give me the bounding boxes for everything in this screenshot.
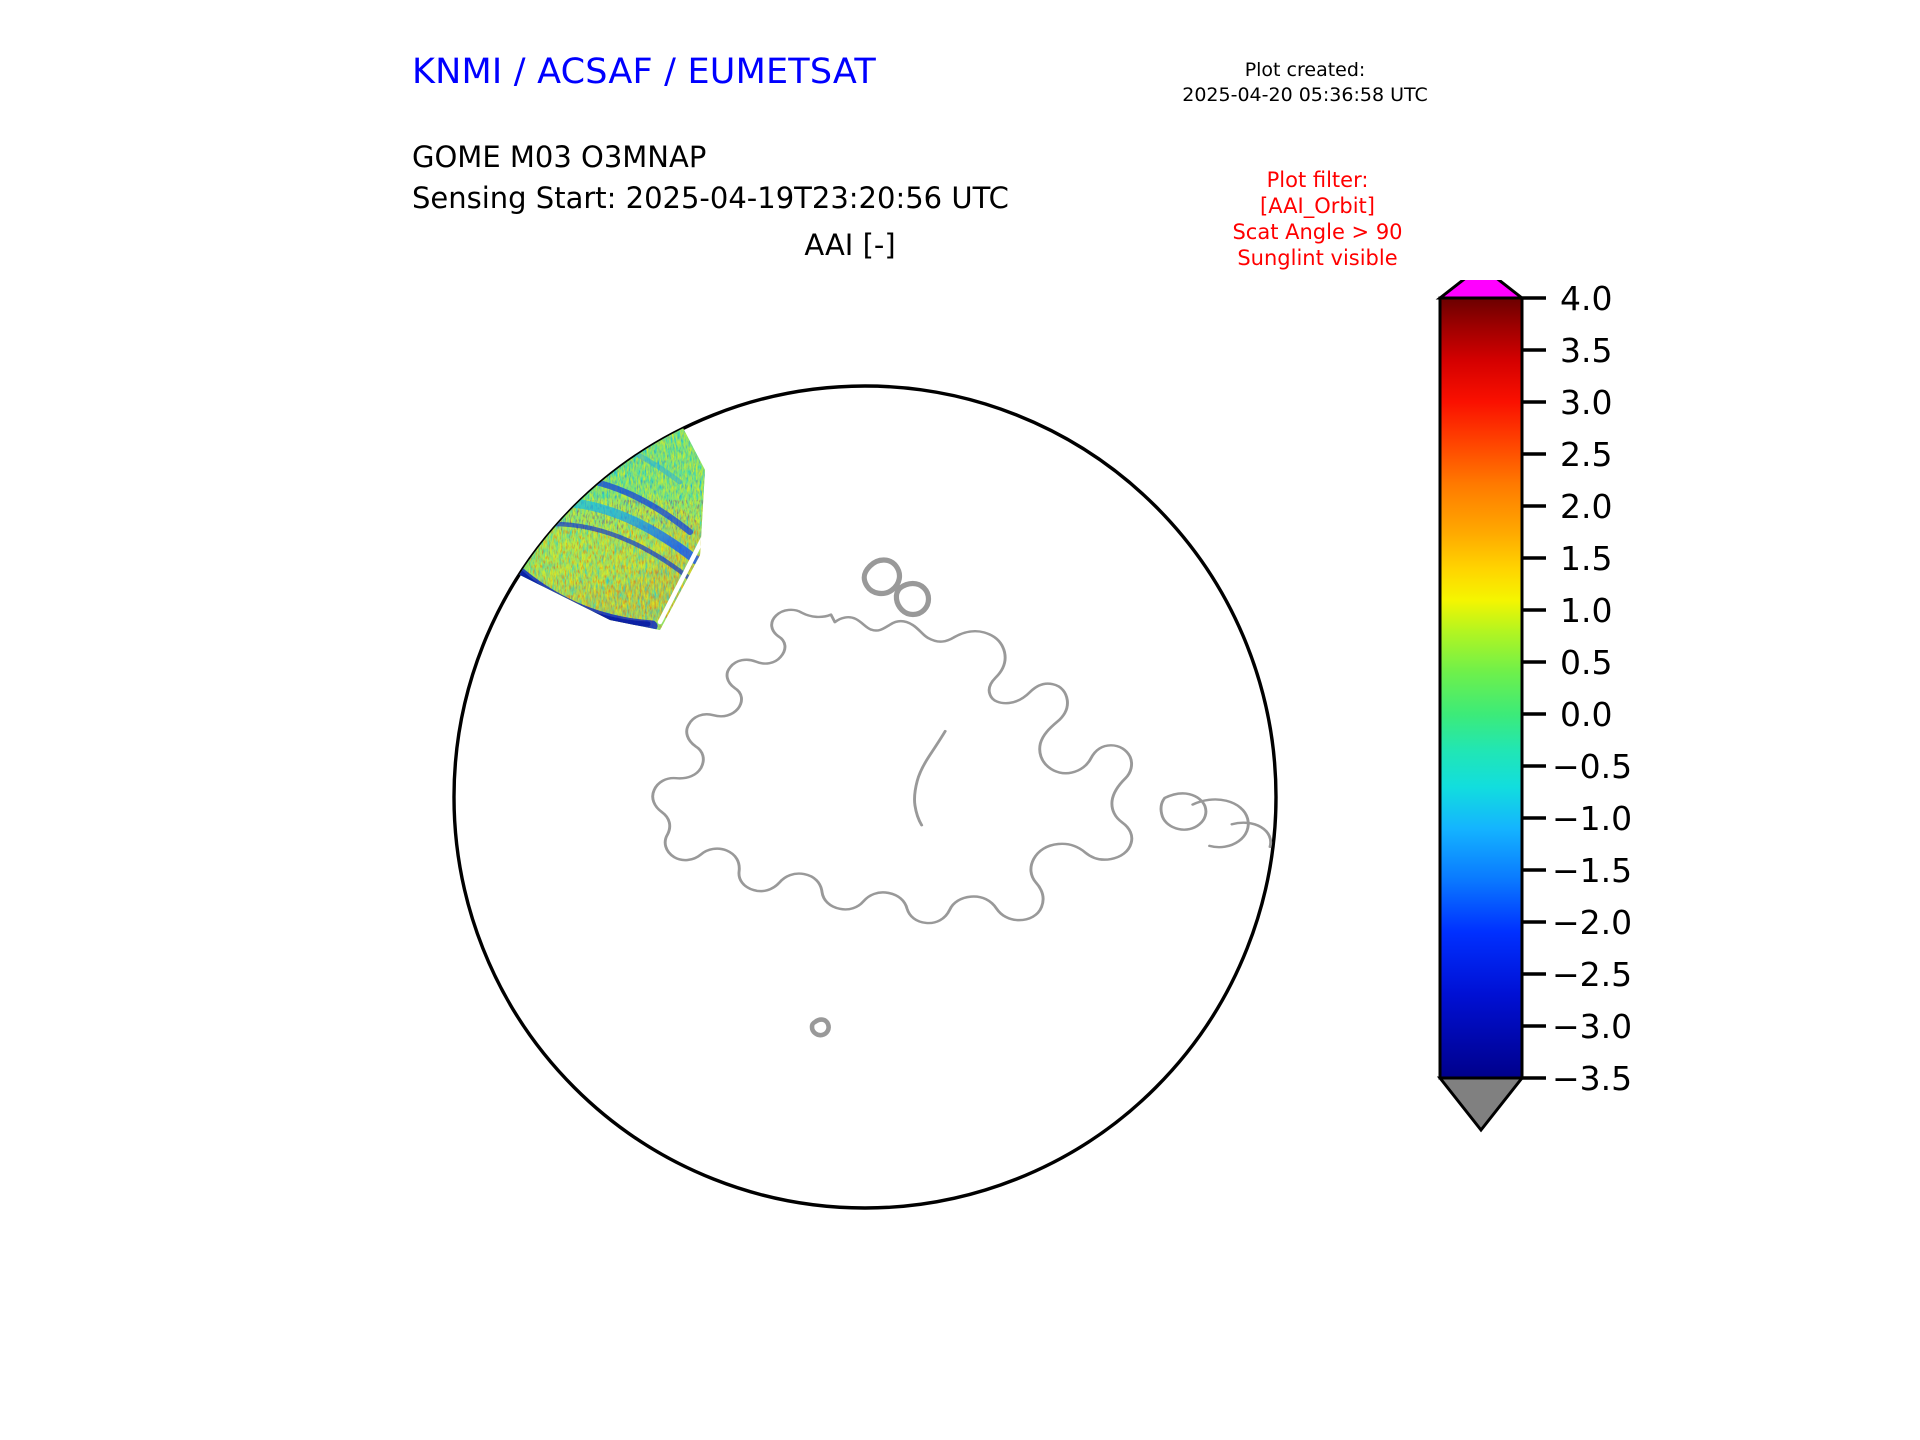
cb-label-5: 1.5 xyxy=(1560,539,1612,578)
cb-label-2: 3.0 xyxy=(1560,383,1612,422)
colorbar-under-arrow xyxy=(1440,1078,1522,1130)
cb-label-9: −0.5 xyxy=(1552,747,1632,786)
plot-axis-title: AAI [-] xyxy=(520,228,1180,262)
plot-created-label: Plot created: xyxy=(1160,58,1450,83)
cb-label-7: 0.5 xyxy=(1560,643,1612,682)
plot-created-block: Plot created: 2025-04-20 05:36:58 UTC xyxy=(1160,58,1450,108)
map-area xyxy=(360,270,1420,1350)
plot-canvas: KNMI / ACSAF / EUMETSAT Plot created: 20… xyxy=(0,0,1920,1440)
filter-line-4: Sunglint visible xyxy=(1185,245,1450,271)
plot-filter-block: Plot filter: [AAI_Orbit] Scat Angle > 90… xyxy=(1185,167,1450,271)
cb-label-1: 3.5 xyxy=(1560,331,1612,370)
instrument-line: GOME M03 O3MNAP xyxy=(412,137,1009,178)
cb-label-13: −2.5 xyxy=(1552,955,1632,994)
filter-line-3: Scat Angle > 90 xyxy=(1185,219,1450,245)
agency-title: KNMI / ACSAF / EUMETSAT xyxy=(412,52,876,92)
cb-label-15: −3.5 xyxy=(1552,1059,1632,1098)
sensing-start-line: Sensing Start: 2025-04-19T23:20:56 UTC xyxy=(412,178,1009,219)
metadata-block: GOME M03 O3MNAP Sensing Start: 2025-04-1… xyxy=(412,137,1009,219)
cb-label-0: 4.0 xyxy=(1560,280,1612,318)
cb-label-6: 1.0 xyxy=(1560,591,1612,630)
plot-created-time: 2025-04-20 05:36:58 UTC xyxy=(1160,83,1450,108)
cb-label-12: −2.0 xyxy=(1552,903,1632,942)
cb-label-10: −1.0 xyxy=(1552,799,1632,838)
cb-label-4: 2.0 xyxy=(1560,487,1612,526)
cb-label-14: −3.0 xyxy=(1552,1007,1632,1046)
cb-label-8: 0.0 xyxy=(1560,695,1612,734)
cb-label-3: 2.5 xyxy=(1560,435,1612,474)
filter-line-2: [AAI_Orbit] xyxy=(1185,193,1450,219)
colorbar-ticks: 4.0 3.5 3.0 2.5 2.0 1.5 1.0 0.5 0.0 −0.5… xyxy=(1522,280,1632,1098)
cb-label-11: −1.5 xyxy=(1552,851,1632,890)
colorbar-gradient xyxy=(1440,298,1522,1078)
filter-line-1: Plot filter: xyxy=(1185,167,1450,193)
colorbar: 4.0 3.5 3.0 2.5 2.0 1.5 1.0 0.5 0.0 −0.5… xyxy=(1430,280,1660,1340)
